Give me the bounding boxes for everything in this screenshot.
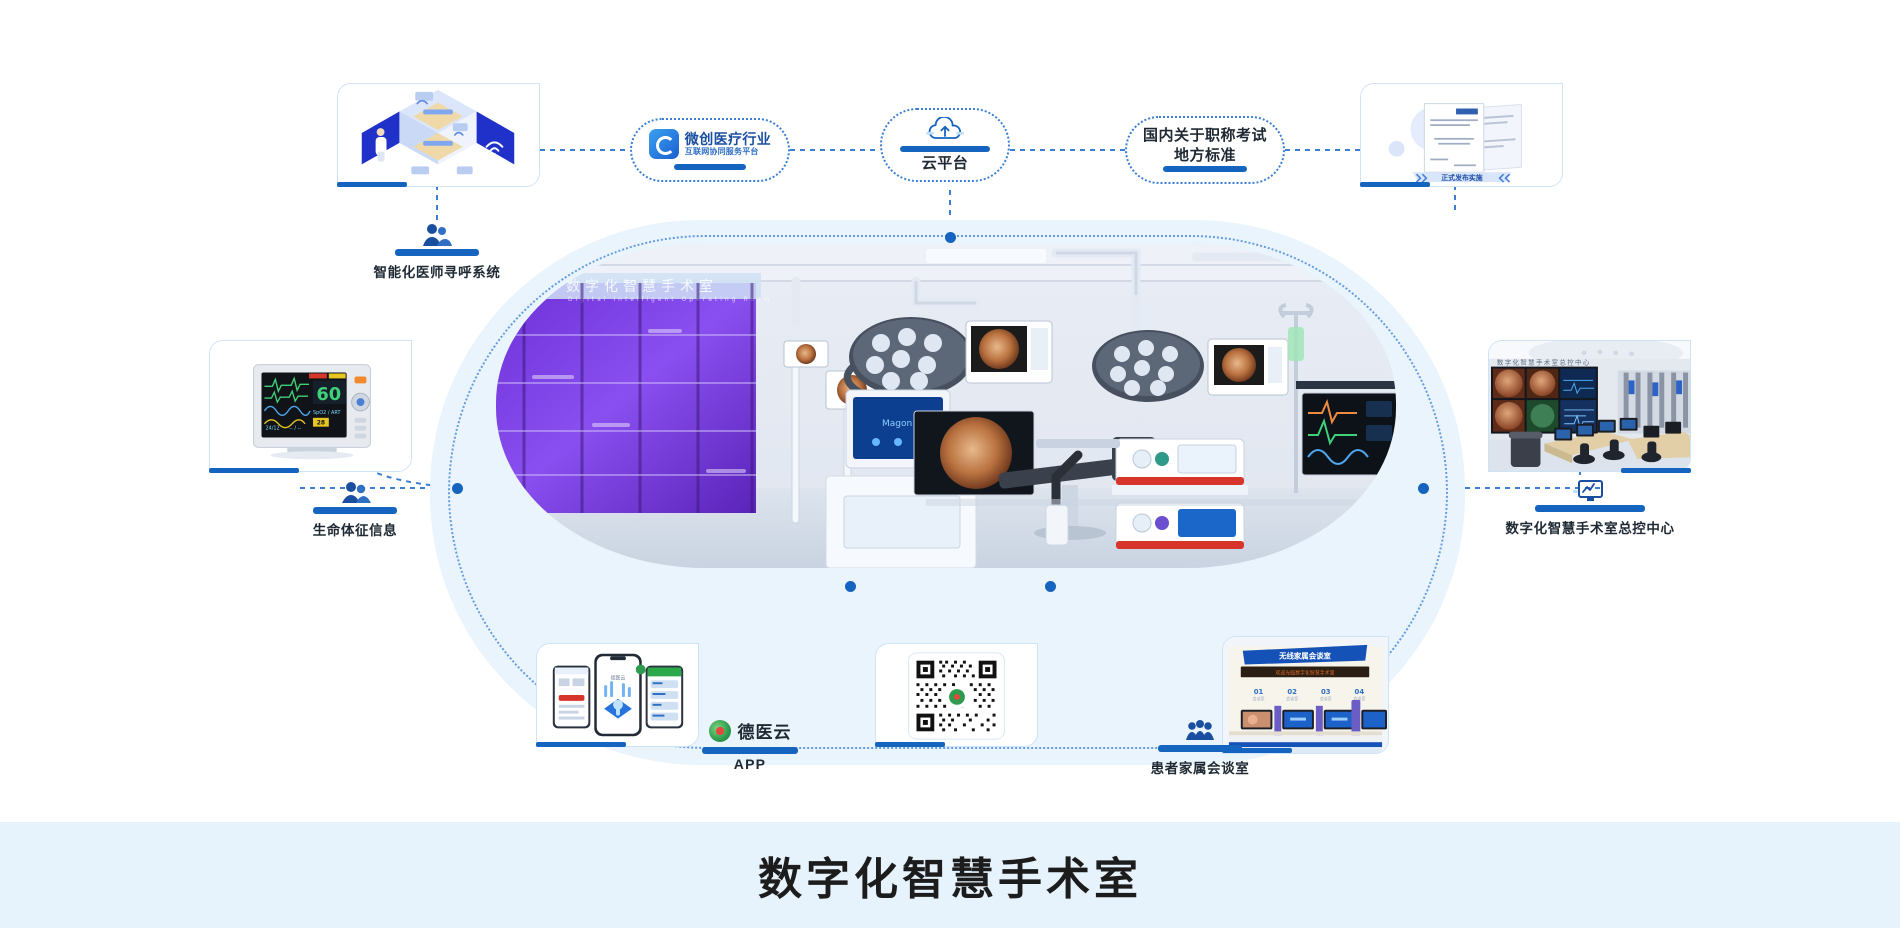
svg-text:Magon: Magon <box>882 419 912 429</box>
svg-text:03: 03 <box>1321 688 1331 696</box>
card-qr-code[interactable] <box>875 643 1038 747</box>
underline-bar <box>674 164 746 170</box>
field-dot-left <box>452 483 463 494</box>
isometric-hospital-illustration <box>338 84 539 186</box>
local-standard-line2: 地方标准 <box>1174 146 1236 166</box>
label-control-center[interactable]: 数字化智慧手术室总控中心 <box>1490 478 1690 537</box>
people-pair-icon <box>338 480 372 506</box>
page-title: 数字化智慧手术室 <box>758 843 1142 907</box>
svg-text:24/12: 24/12 <box>265 426 279 432</box>
platform-logo: 微创医疗行业 互联网协同服务平台 <box>649 129 771 159</box>
local-standard-line1: 国内关于职称考试 <box>1143 126 1267 146</box>
underline-bar <box>395 249 479 256</box>
footer-band: 数字化智慧手术室 <box>0 822 1900 928</box>
family-room-banner-text: 无线家属会谈室 <box>1278 652 1331 661</box>
monitor-bpm-value: 60 <box>316 385 341 405</box>
field-dot-bottom-left <box>845 581 856 592</box>
card-paging-system[interactable] <box>337 83 540 187</box>
app-brand-name: 德医云 <box>738 718 792 743</box>
field-dot-bottom-right <box>1045 581 1056 592</box>
svg-text:Digital Intelligent Operating: Digital Intelligent Operating Room <box>568 296 773 303</box>
field-dot-top <box>945 232 956 243</box>
svg-text:正式发布实施: 正式发布实施 <box>1441 173 1483 182</box>
underline-bar <box>1163 166 1247 172</box>
paging-system-caption: 智能化医师寻呼系统 <box>374 261 501 281</box>
node-micro-invasive-platform[interactable]: 微创医疗行业 互联网协同服务平台 <box>630 118 790 182</box>
underline-bar <box>1158 745 1242 752</box>
svg-text:04: 04 <box>1355 688 1365 696</box>
control-center-wall-text: 数字化智慧手术室总控中心 <box>1497 358 1591 367</box>
monitor-chart-icon <box>1573 478 1607 504</box>
card-accent-bar-standard <box>1360 182 1430 187</box>
card-accent-bar-qr <box>875 742 945 747</box>
mobile-app-screens-illustration: 德医云 <box>537 644 698 746</box>
svg-text:会谈室: 会谈室 <box>1286 696 1298 701</box>
app-logo-icon <box>649 129 679 159</box>
card-accent-bar-vitals <box>209 468 299 473</box>
deyiyun-logo-icon <box>709 720 731 742</box>
svg-text:02: 02 <box>1287 688 1297 696</box>
svg-text:会谈室: 会谈室 <box>1320 696 1332 701</box>
svg-text:德医云: 德医云 <box>611 674 626 681</box>
card-app-phones[interactable]: 德医云 <box>536 643 699 747</box>
field-dot-right <box>1418 483 1429 494</box>
underline-bar <box>702 747 798 754</box>
vital-signs-caption: 生命体征信息 <box>313 519 398 539</box>
platform-logo-subtitle: 互联网协同服务平台 <box>685 147 771 157</box>
standard-document-illustration: 正式发布实施 <box>1361 84 1562 186</box>
label-paging-system[interactable]: 智能化医师寻呼系统 <box>352 222 522 281</box>
underline-bar <box>900 146 990 152</box>
card-control-center[interactable]: 数字化智慧手术室总控中心 <box>1488 340 1691 472</box>
underline-bar <box>1535 505 1645 512</box>
svg-text:28: 28 <box>317 421 325 427</box>
card-standard-document[interactable]: 正式发布实施 <box>1360 83 1563 187</box>
underline-bar <box>313 507 397 514</box>
app-brand-lockup[interactable]: 德医云 APP <box>690 718 810 772</box>
app-brand-sub: APP <box>734 756 766 772</box>
svg-text:欢迎光临数字化智慧手术室: 欢迎光临数字化智慧手术室 <box>1275 669 1334 676</box>
control-center-illustration: 数字化智慧手术室总控中心 <box>1489 341 1690 471</box>
infographic-canvas: 数字化智慧手术室 Digital Intelligent Operating R… <box>0 0 1900 928</box>
svg-text:01: 01 <box>1254 688 1264 696</box>
doctor-group-icon <box>420 222 454 248</box>
label-family-room[interactable]: 患者家属会谈室 <box>1120 718 1280 777</box>
svg-text:-- / --: -- / -- <box>289 426 301 432</box>
patient-monitor-illustration: 60 SpO2 / ART 28 24/12-- / -- <box>210 341 411 471</box>
svg-text:SpO2 / ART: SpO2 / ART <box>313 410 342 416</box>
card-accent-bar-paging <box>337 182 407 187</box>
cloud-platform-label: 云平台 <box>922 154 969 174</box>
card-vital-signs[interactable]: 60 SpO2 / ART 28 24/12-- / -- <box>209 340 412 472</box>
svg-text:会谈室: 会谈室 <box>1253 696 1265 701</box>
label-vital-signs[interactable]: 生命体征信息 <box>280 480 430 539</box>
card-accent-bar-control <box>1621 468 1691 473</box>
family-group-icon <box>1183 718 1217 744</box>
node-local-standard[interactable]: 国内关于职称考试 地方标准 <box>1125 116 1285 184</box>
card-accent-bar-app <box>536 742 626 747</box>
control-center-caption: 数字化智慧手术室总控中心 <box>1505 517 1674 537</box>
node-cloud-platform[interactable]: 云平台 <box>880 108 1010 182</box>
svg-text:数字化智慧手术室: 数字化智慧手术室 <box>566 278 718 295</box>
operating-room-photo: 数字化智慧手术室 Digital Intelligent Operating R… <box>496 243 1396 568</box>
family-room-caption: 患者家属会谈室 <box>1151 757 1250 777</box>
qr-code-illustration <box>876 644 1037 746</box>
cloud-upload-icon <box>924 117 966 143</box>
platform-logo-title: 微创医疗行业 <box>685 131 771 147</box>
